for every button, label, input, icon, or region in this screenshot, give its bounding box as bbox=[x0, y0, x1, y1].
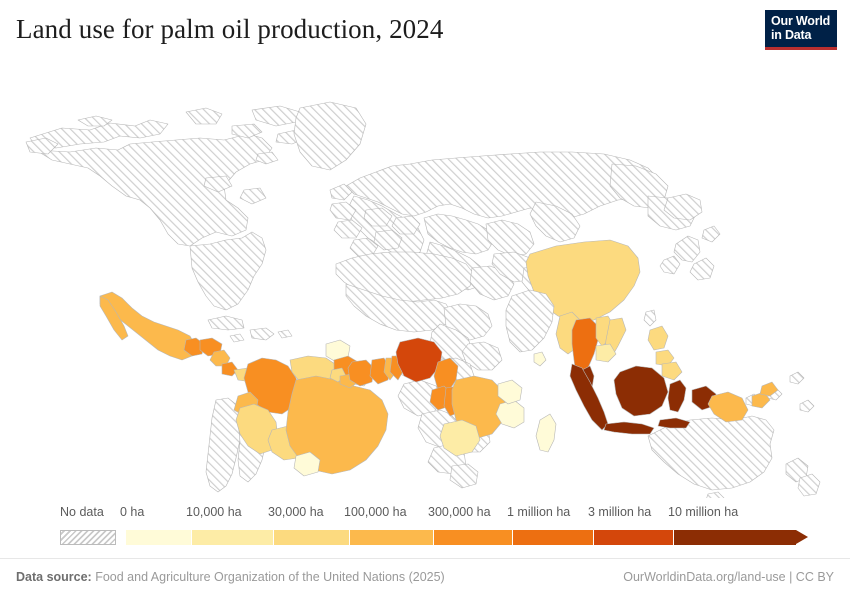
region-north-america-nodata[interactable] bbox=[26, 102, 366, 310]
region-east-asia-nodata[interactable] bbox=[660, 194, 720, 280]
legend-bin-1[interactable] bbox=[192, 530, 274, 545]
country-philippines-mindanao[interactable] bbox=[662, 362, 682, 380]
country-indonesia-east[interactable] bbox=[658, 418, 690, 428]
map-legend: No data 0 ha 10,000 ha 30,000 ha 100,000… bbox=[0, 505, 850, 555]
chart-footer: Data source: Food and Agriculture Organi… bbox=[0, 558, 850, 601]
country-puerto-rico[interactable] bbox=[278, 330, 292, 338]
data-source-label: Data source: bbox=[16, 570, 92, 584]
country-india[interactable] bbox=[506, 290, 554, 352]
logo-line-2: in Data bbox=[771, 28, 831, 42]
country-indonesia-sulawesi[interactable] bbox=[668, 380, 686, 412]
legend-color-bar[interactable] bbox=[126, 530, 796, 545]
legend-label-no-data: No data bbox=[60, 505, 104, 519]
legend-label-10000: 10,000 ha bbox=[186, 505, 242, 519]
legend-label-100000: 100,000 ha bbox=[344, 505, 407, 519]
country-papua-new-guinea[interactable] bbox=[708, 392, 748, 422]
country-borneo[interactable] bbox=[614, 366, 668, 416]
chart-header: Land use for palm oil production, 2024 O… bbox=[0, 0, 850, 68]
world-choropleth-map[interactable] bbox=[0, 68, 850, 498]
our-world-in-data-logo[interactable]: Our World in Data bbox=[765, 10, 837, 50]
attribution-text[interactable]: OurWorldinData.org/land-use | CC BY bbox=[623, 570, 834, 584]
legend-bin-6[interactable] bbox=[594, 530, 674, 545]
logo-line-1: Our World bbox=[771, 14, 831, 28]
country-madagascar[interactable] bbox=[536, 414, 556, 452]
data-source-value: Food and Agriculture Organization of the… bbox=[92, 570, 445, 584]
legend-label-10-million: 10 million ha bbox=[668, 505, 738, 519]
page-title: Land use for palm oil production, 2024 bbox=[16, 14, 443, 45]
legend-label-0: 0 ha bbox=[120, 505, 144, 519]
legend-arrow-cap bbox=[796, 530, 808, 544]
legend-no-data-swatch[interactable] bbox=[60, 530, 116, 545]
legend-label-3-million: 3 million ha bbox=[588, 505, 651, 519]
legend-bin-5[interactable] bbox=[513, 530, 594, 545]
country-philippines-luzon[interactable] bbox=[648, 326, 668, 350]
legend-bin-3[interactable] bbox=[350, 530, 434, 545]
country-sri-lanka[interactable] bbox=[534, 352, 546, 366]
country-indonesia-java[interactable] bbox=[604, 422, 654, 434]
legend-label-300000: 300,000 ha bbox=[428, 505, 491, 519]
legend-label-30000: 30,000 ha bbox=[268, 505, 324, 519]
country-cuba[interactable] bbox=[208, 316, 244, 330]
world-map-svg[interactable] bbox=[0, 68, 850, 498]
country-taiwan[interactable] bbox=[644, 310, 656, 326]
country-jamaica[interactable] bbox=[230, 334, 244, 342]
country-haiti-dominican[interactable] bbox=[250, 328, 274, 340]
legend-bin-2[interactable] bbox=[274, 530, 350, 545]
data-source-text: Data source: Food and Agriculture Organi… bbox=[16, 570, 445, 584]
legend-label-1-million: 1 million ha bbox=[507, 505, 570, 519]
legend-bin-4[interactable] bbox=[434, 530, 513, 545]
legend-bin-7[interactable] bbox=[674, 530, 796, 545]
legend-bin-0[interactable] bbox=[126, 530, 192, 545]
legend-tick-labels: No data 0 ha 10,000 ha 30,000 ha 100,000… bbox=[0, 505, 850, 525]
